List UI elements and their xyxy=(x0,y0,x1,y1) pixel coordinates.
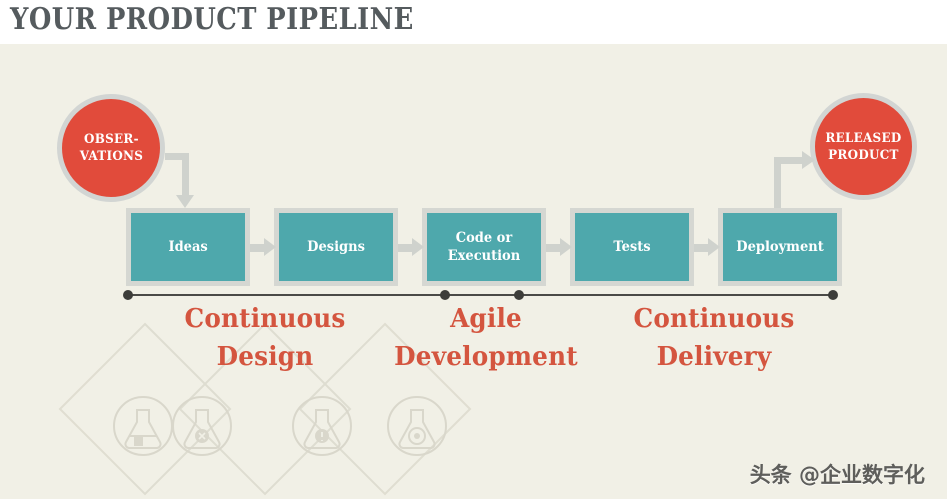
process-box-code-or-execution[interactable]: Code or Execution xyxy=(422,208,546,286)
arrow-head-right-icon xyxy=(802,151,815,169)
phase-timeline-line xyxy=(128,294,834,296)
phase-continuous-delivery-line2: Delivery xyxy=(606,338,823,376)
flask-icon xyxy=(293,397,351,455)
phase-label-agile-development: Agile Development xyxy=(380,300,592,376)
page-title: YOUR PRODUCT PIPELINE xyxy=(10,2,414,37)
timeline-dot xyxy=(123,290,133,300)
node-released-product-line2: PRODUCT xyxy=(825,147,901,164)
process-box-tests[interactable]: Tests xyxy=(570,208,694,286)
process-box-code-line2: Execution xyxy=(448,247,520,265)
node-observations[interactable]: OBSER- VATIONS xyxy=(57,94,165,202)
flask-icon xyxy=(173,397,231,455)
flask-icon xyxy=(388,397,446,455)
arrow-designs-to-code-icon xyxy=(398,238,424,257)
diagram-canvas: OBSER- VATIONS RELEASED PRODUCT Ideas De… xyxy=(0,44,947,499)
phase-continuous-delivery-line1: Continuous xyxy=(606,300,823,338)
phase-continuous-design-line1: Continuous xyxy=(156,300,375,338)
node-released-product-line1: RELEASED xyxy=(825,130,901,147)
process-box-deployment[interactable]: Deployment xyxy=(718,208,842,286)
phase-agile-development-line1: Agile xyxy=(385,300,586,338)
process-box-code-line1: Code or xyxy=(448,229,520,247)
node-observations-line1: OBSER- xyxy=(79,131,142,148)
arrow-tests-to-deployment-icon xyxy=(694,238,720,257)
process-box-designs-line1: Designs xyxy=(307,238,365,256)
node-observations-line2: VATIONS xyxy=(79,148,142,165)
phase-continuous-design-line2: Design xyxy=(156,338,375,376)
process-box-deployment-line1: Deployment xyxy=(736,238,823,256)
process-box-designs[interactable]: Designs xyxy=(274,208,398,286)
source-watermark: 头条 @企业数字化 xyxy=(750,459,925,489)
arrow-head-down-icon xyxy=(176,195,194,208)
connector-deployment-to-released-horizontal xyxy=(774,157,804,164)
timeline-dot xyxy=(440,290,450,300)
connector-observations-to-ideas-vertical xyxy=(182,153,189,197)
arrow-ideas-to-designs-icon xyxy=(250,238,276,257)
process-box-ideas-line1: Ideas xyxy=(168,238,207,256)
header-bar: YOUR PRODUCT PIPELINE xyxy=(0,0,947,44)
phase-agile-development-line2: Development xyxy=(385,338,586,376)
phase-label-continuous-design: Continuous Design xyxy=(150,300,380,376)
node-released-product[interactable]: RELEASED PRODUCT xyxy=(810,93,917,200)
flask-icon xyxy=(114,397,172,455)
timeline-dot xyxy=(514,290,524,300)
process-box-tests-line1: Tests xyxy=(613,238,650,256)
connector-deployment-to-released-vertical xyxy=(774,157,781,209)
phase-label-continuous-delivery: Continuous Delivery xyxy=(600,300,828,376)
arrow-code-to-tests-icon xyxy=(546,238,572,257)
process-box-ideas[interactable]: Ideas xyxy=(126,208,250,286)
timeline-dot xyxy=(828,290,838,300)
